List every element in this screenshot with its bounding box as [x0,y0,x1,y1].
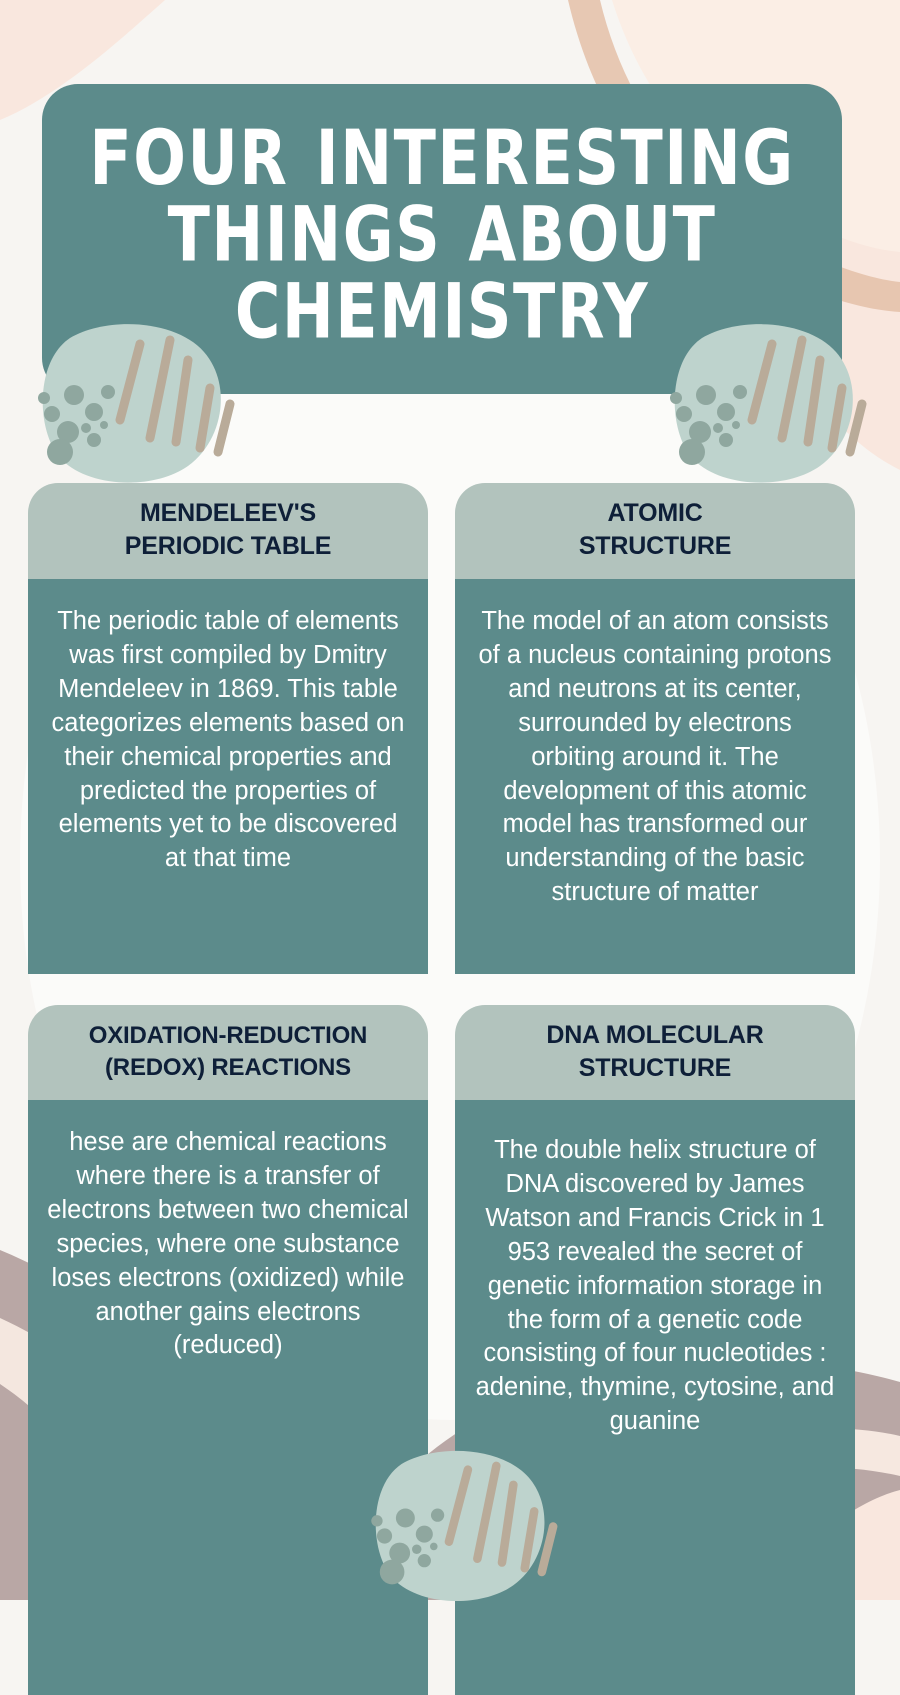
fact-card-body: hese are chemical reactions where there … [28,1100,428,1695]
fact-card-dna: DNA MOLECULAR STRUCTURE The double helix… [455,1005,855,1695]
fact-card-body: The model of an atom consists of a nucle… [455,579,855,974]
fact-card-title: ATOMIC STRUCTURE [455,483,855,579]
fact-cards-grid: MENDELEEV'S PERIODIC TABLE The periodic … [0,0,900,1600]
fact-card-title: MENDELEEV'S PERIODIC TABLE [28,483,428,579]
fact-card-redox: OXIDATION-REDUCTION (REDOX) REACTIONS he… [28,1005,428,1695]
fact-card-mendeleev: MENDELEEV'S PERIODIC TABLE The periodic … [28,483,428,974]
fact-card-title: DNA MOLECULAR STRUCTURE [455,1005,855,1100]
fact-card-body: The double helix structure of DNA discov… [455,1100,855,1695]
fact-card-atomic-structure: ATOMIC STRUCTURE The model of an atom co… [455,483,855,974]
fact-card-body: The periodic table of elements was first… [28,579,428,974]
fact-card-title: OXIDATION-REDUCTION (REDOX) REACTIONS [28,1005,428,1100]
